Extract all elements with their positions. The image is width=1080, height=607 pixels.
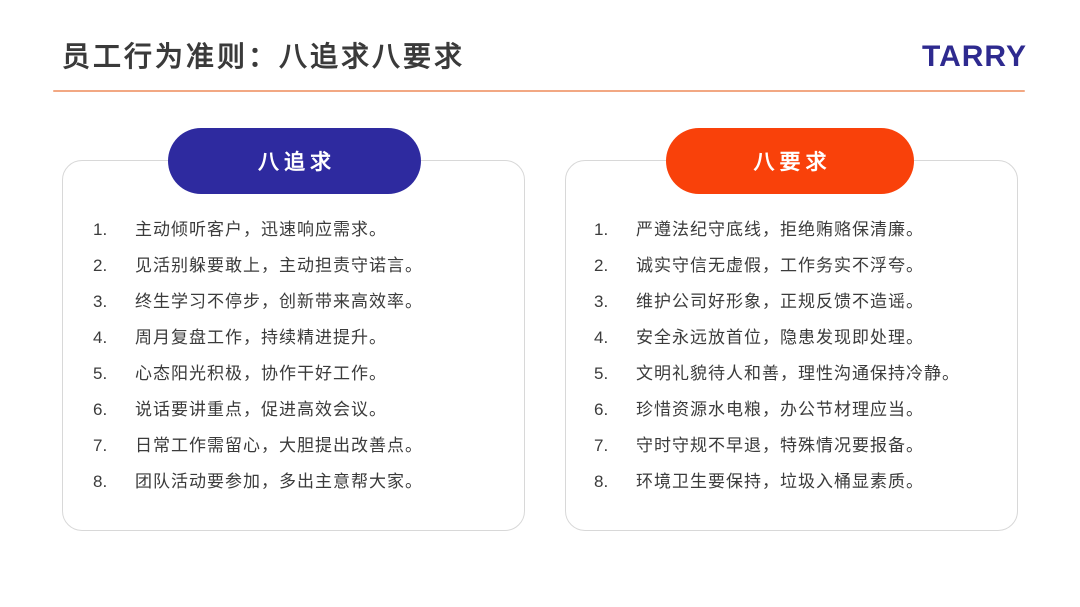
list-item-number: 7. (93, 436, 135, 456)
list-item-number: 4. (93, 328, 135, 348)
list-item-number: 2. (594, 256, 636, 276)
list-item-number: 6. (93, 400, 135, 420)
list-item-number: 4. (594, 328, 636, 348)
list-item-text: 主动倾听客户，迅速响应需求。 (135, 215, 502, 240)
list-item-text: 诚实守信无虚假，工作务实不浮夸。 (636, 251, 995, 276)
list-eight-pursuits: 1. 主动倾听客户，迅速响应需求。 2. 见活别躲要敢上，主动担责守诺言。 3.… (63, 215, 524, 503)
card-eight-requirements: 八要求 1. 严遵法纪守底线，拒绝贿赂保清廉。 2. 诚实守信无虚假，工作务实不… (565, 160, 1018, 531)
list-item: 4. 周月复盘工作，持续精进提升。 (93, 323, 502, 359)
card-header-pill-left: 八追求 (168, 128, 421, 194)
list-item-text: 终生学习不停步，创新带来高效率。 (135, 287, 502, 312)
list-item: 8. 团队活动要参加，多出主意帮大家。 (93, 467, 502, 503)
list-item: 6. 说话要讲重点，促进高效会议。 (93, 395, 502, 431)
list-item-text: 严遵法纪守底线，拒绝贿赂保清廉。 (636, 215, 995, 240)
list-item-text: 安全永远放首位，隐患发现即处理。 (636, 323, 995, 348)
list-item: 4. 安全永远放首位，隐患发现即处理。 (594, 323, 995, 359)
list-item-number: 3. (594, 292, 636, 312)
list-item-text: 维护公司好形象，正规反馈不造谣。 (636, 287, 995, 312)
list-item-text: 环境卫生要保持，垃圾入桶显素质。 (636, 467, 995, 492)
list-item-number: 1. (93, 220, 135, 240)
list-item-number: 5. (93, 364, 135, 384)
list-item: 6. 珍惜资源水电粮，办公节材理应当。 (594, 395, 995, 431)
list-eight-requirements: 1. 严遵法纪守底线，拒绝贿赂保清廉。 2. 诚实守信无虚假，工作务实不浮夸。 … (566, 215, 1017, 503)
list-item-text: 团队活动要参加，多出主意帮大家。 (135, 467, 502, 492)
list-item: 2. 见活别躲要敢上，主动担责守诺言。 (93, 251, 502, 287)
list-item-text: 心态阳光积极，协作干好工作。 (135, 359, 502, 384)
slide-root: 员工行为准则：八追求八要求 TARRY 八追求 1. 主动倾听客户，迅速响应需求… (0, 0, 1080, 607)
list-item-number: 3. (93, 292, 135, 312)
list-item-number: 8. (93, 472, 135, 492)
slide-header: 员工行为准则：八追求八要求 TARRY (0, 0, 1080, 92)
list-item-number: 7. (594, 436, 636, 456)
list-item: 3. 终生学习不停步，创新带来高效率。 (93, 287, 502, 323)
list-item-number: 5. (594, 364, 636, 384)
list-item-number: 6. (594, 400, 636, 420)
list-item: 1. 严遵法纪守底线，拒绝贿赂保清廉。 (594, 215, 995, 251)
list-item: 7. 日常工作需留心，大胆提出改善点。 (93, 431, 502, 467)
card-header-pill-right: 八要求 (666, 128, 914, 194)
content-cards: 八追求 1. 主动倾听客户，迅速响应需求。 2. 见活别躲要敢上，主动担责守诺言… (0, 160, 1080, 535)
list-item-number: 1. (594, 220, 636, 240)
list-item-text: 日常工作需留心，大胆提出改善点。 (135, 431, 502, 456)
list-item: 1. 主动倾听客户，迅速响应需求。 (93, 215, 502, 251)
header-divider (53, 90, 1025, 92)
list-item: 5. 文明礼貌待人和善，理性沟通保持冷静。 (594, 359, 995, 395)
list-item-number: 8. (594, 472, 636, 492)
list-item: 3. 维护公司好形象，正规反馈不造谣。 (594, 287, 995, 323)
list-item: 7. 守时守规不早退，特殊情况要报备。 (594, 431, 995, 467)
list-item-text: 周月复盘工作，持续精进提升。 (135, 323, 502, 348)
list-item-text: 见活别躲要敢上，主动担责守诺言。 (135, 251, 502, 276)
list-item-text: 说话要讲重点，促进高效会议。 (135, 395, 502, 420)
list-item-text: 守时守规不早退，特殊情况要报备。 (636, 431, 995, 456)
list-item-text: 珍惜资源水电粮，办公节材理应当。 (636, 395, 995, 420)
brand-logo: TARRY (922, 42, 1027, 72)
list-item-number: 2. (93, 256, 135, 276)
list-item: 2. 诚实守信无虚假，工作务实不浮夸。 (594, 251, 995, 287)
list-item-text: 文明礼貌待人和善，理性沟通保持冷静。 (636, 359, 995, 384)
list-item: 8. 环境卫生要保持，垃圾入桶显素质。 (594, 467, 995, 503)
card-eight-pursuits: 八追求 1. 主动倾听客户，迅速响应需求。 2. 见活别躲要敢上，主动担责守诺言… (62, 160, 525, 531)
list-item: 5. 心态阳光积极，协作干好工作。 (93, 359, 502, 395)
page-title: 员工行为准则：八追求八要求 (62, 43, 465, 71)
